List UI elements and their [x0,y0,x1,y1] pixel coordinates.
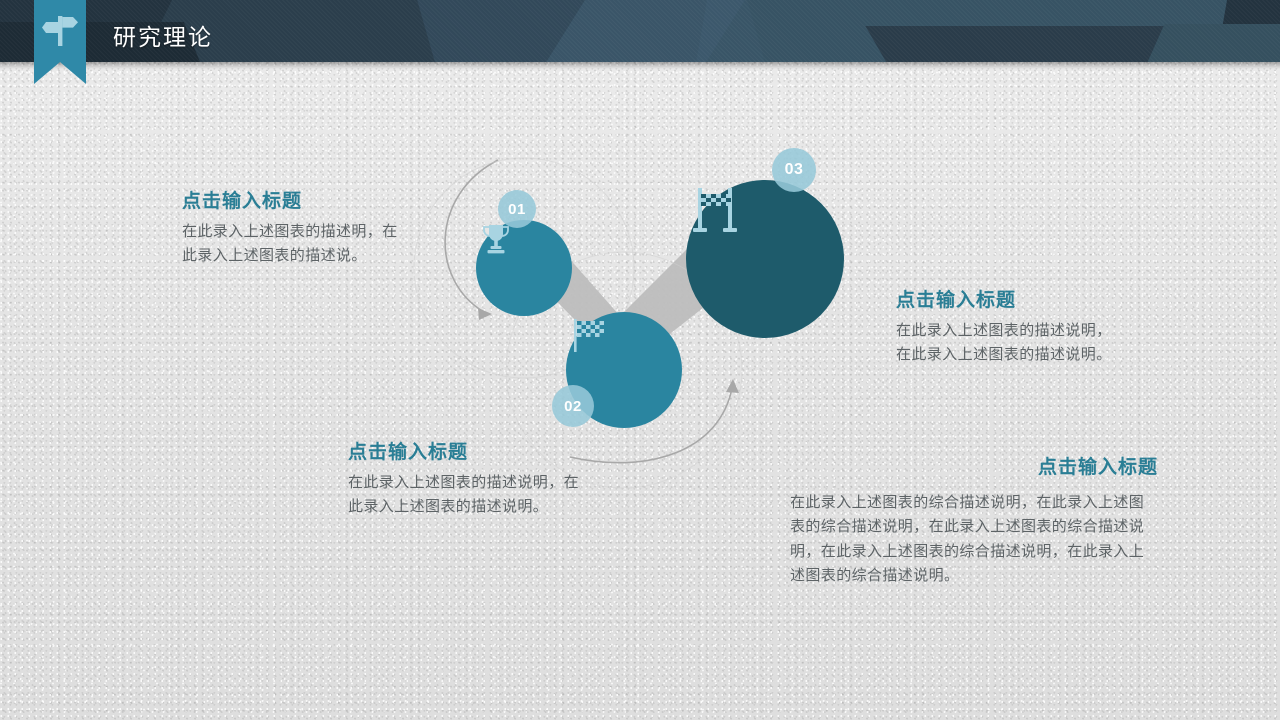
text-block-3: 点击输入标题 在此录入上述图表的描述说明，在此录入上述图表的描述说明。 [896,285,1116,368]
text-block-2-title: 点击输入标题 [348,437,593,464]
header-tag-point [34,62,86,84]
node-badge-02: 02 [552,385,594,427]
page-title: 研究理论 [113,18,213,52]
text-block-2-body: 在此录入上述图表的描述说明，在此录入上述图表的描述说明。 [348,471,593,520]
header-shadow [0,62,1280,69]
slide-canvas: 研究理论 01 [0,0,1280,720]
node-badge-01: 01 [498,190,536,228]
text-block-1-title: 点击输入标题 [182,186,400,213]
diagram-node-03[interactable] [686,180,844,338]
text-block-4-title: 点击输入标题 [790,452,1158,479]
text-block-3-title: 点击输入标题 [896,285,1116,312]
signpost-icon [42,14,78,48]
node-badge-03: 03 [772,148,816,192]
text-block-1-body: 在此录入上述图表的描述明，在此录入上述图表的描述说。 [182,220,400,269]
header-tag-badge [34,0,86,62]
diagram-node-01[interactable] [476,220,572,316]
text-block-4: 点击输入标题 在此录入上述图表的综合描述说明，在此录入上述图表的综合描述说明，在… [790,452,1158,588]
arrow-head-right [726,379,739,393]
checkered-flag-icon [566,312,612,358]
text-block-3-body: 在此录入上述图表的描述说明，在此录入上述图表的描述说明。 [896,319,1116,368]
arrow-head-left [478,308,492,320]
text-block-4-body: 在此录入上述图表的综合描述说明，在此录入上述图表的综合描述说明，在此录入上述图表… [790,491,1158,588]
process-diagram: 01 02 [420,130,890,470]
text-block-1: 点击输入标题 在此录入上述图表的描述明，在此录入上述图表的描述说。 [182,186,400,269]
text-block-2: 点击输入标题 在此录入上述图表的描述说明，在此录入上述图表的描述说明。 [348,437,593,520]
finish-gate-icon [686,180,744,238]
